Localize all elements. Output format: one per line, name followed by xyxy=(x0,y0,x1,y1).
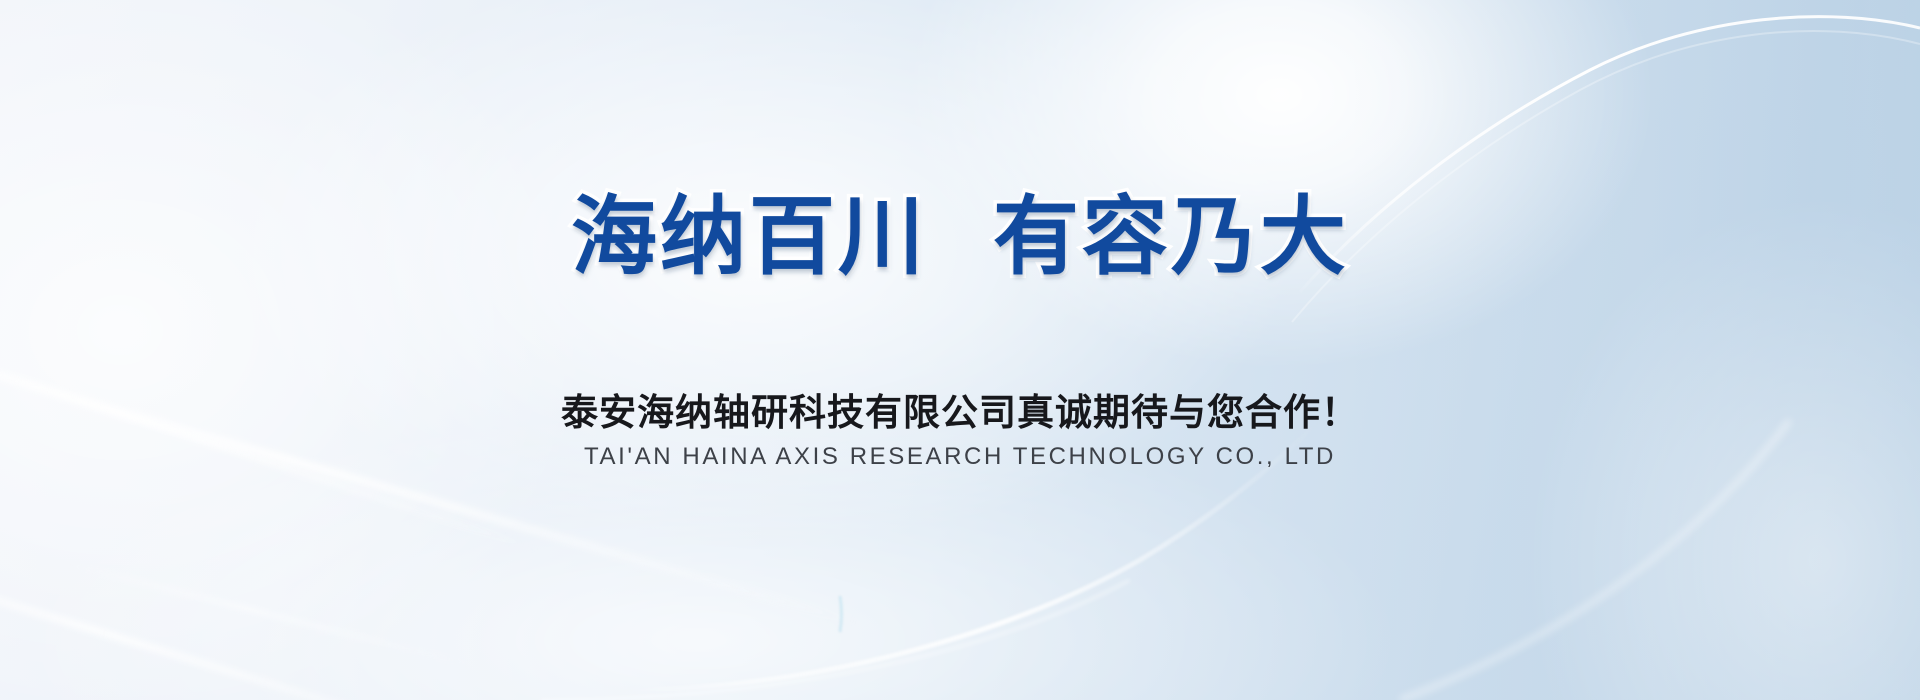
subtitle-english: TAI'AN HAINA AXIS RESEARCH TECHNOLOGY CO… xyxy=(0,443,1920,471)
hero-banner: 海纳百川 有容乃大 泰安海纳轴研科技有限公司真诚期待与您合作！ TAI'AN H… xyxy=(0,0,1920,700)
page-title: 海纳百川 有容乃大 xyxy=(0,192,1920,282)
subtitle-chinese: 泰安海纳轴研科技有限公司真诚期待与您合作！ xyxy=(0,382,1920,436)
banner-content: 海纳百川 有容乃大 泰安海纳轴研科技有限公司真诚期待与您合作！ TAI'AN H… xyxy=(0,0,1920,700)
